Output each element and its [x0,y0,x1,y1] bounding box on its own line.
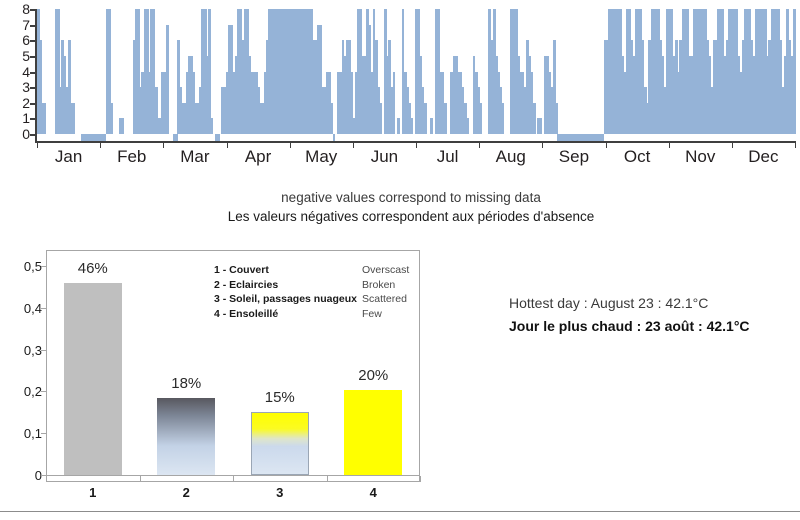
footer-divider [0,511,800,512]
top-chart-month-labels: JanFebMarAprMayJunJulAugSepOctNovDec [37,147,795,171]
top-chart-bar [430,118,433,134]
top-chart-y-tick [30,25,36,27]
bottom-chart-x-tick [140,476,141,482]
top-chart-bar [502,103,505,134]
top-chart-bar [555,103,558,134]
bottom-chart-x-tick [46,476,47,482]
bottom-chart-bar [157,398,215,475]
bottom-chart-y-tick-label: 0,4 [24,302,42,315]
top-chart-y-axis-labels: 876543210 [8,9,30,135]
top-chart-bar [533,103,536,134]
top-chart-y-tick-label: 1 [22,111,30,125]
legend-label-french: 1 - Couvert [214,263,269,278]
legend-label-french: 3 - Soleil, passages nuageux [214,292,357,307]
hottest-day-note: Hottest day : August 23 : 42.1°C Jour le… [509,292,779,338]
bottom-chart-y-tick [41,266,47,267]
legend-label-english: Few [362,307,382,322]
top-chart-bar [393,72,396,135]
top-chart-bar [444,103,447,134]
bottom-chart-y-tick-label: 0,3 [24,344,42,357]
top-chart-y-tick [30,72,36,74]
top-chart-y-tick-label: 0 [22,127,30,141]
top-chart-bar [397,118,400,134]
bottom-chart-y-tick [41,391,47,392]
top-chart-y-tick-label: 3 [22,80,30,94]
top-chart-y-tick-label: 8 [22,2,30,16]
bottom-chart-category-label: 3 [250,485,310,500]
bottom-chart-y-axis-labels: 00,10,20,30,40,5 [4,245,42,485]
top-chart-month-label: Dec [732,147,795,167]
hottest-day-english: Hottest day : August 23 : 42.1°C [509,292,779,315]
bottom-chart-y-tick-label: 0,1 [24,427,42,440]
top-chart-bar [466,118,469,134]
top-chart-bar [379,103,382,134]
top-chart-bar [602,134,605,141]
bottom-chart-bar-value-label: 46% [53,261,133,277]
bottom-chart-bar-value-label: 18% [146,376,226,392]
top-chart-plot-area [37,9,795,141]
top-chart-x-tick [227,141,228,148]
top-chart-bar [424,103,427,134]
top-chart-y-tick [30,9,36,11]
bottom-chart-x-tick [327,476,328,482]
hottest-day-french: Jour le plus chaud : 23 août : 42.1°C [509,315,779,338]
top-chart-month-label: Feb [100,147,163,167]
top-chart-month-label: Apr [227,147,290,167]
top-chart-bar [479,103,482,134]
top-chart-y-tick [30,134,36,136]
top-chart-bar [330,103,333,134]
top-chart-x-axis [35,141,795,143]
top-chart-y-tick [30,40,36,42]
top-chart-bar [175,134,178,141]
top-chart-x-tick [100,141,101,148]
top-chart-bar [793,9,796,134]
top-chart-month-label: Jun [353,147,416,167]
top-chart-x-tick [353,141,354,148]
bottom-chart-y-tick-label: 0,5 [24,260,42,273]
daily-cloud-cover-chart: 876543210 JanFebMarAprMayJunJulAugSepOct… [0,0,800,175]
top-chart-bar [210,118,213,134]
top-chart-y-tick [30,118,36,120]
top-chart-x-tick [732,141,733,148]
top-chart-x-tick [669,141,670,148]
top-chart-x-tick [290,141,291,148]
top-chart-bar [217,134,220,141]
top-chart-y-tick-label: 6 [22,33,30,47]
legend-row: 3 - Soleil, passages nuageuxScattered [214,292,414,307]
sky-condition-legend: 1 - CouvertOverscast2 - EclairciesBroken… [214,263,414,321]
top-chart-bar [539,118,542,134]
bottom-chart-y-tick [41,433,47,434]
top-chart-month-label: Oct [606,147,669,167]
bottom-chart-y-tick [41,308,47,309]
caption-line-french: Les valeurs négatives correspondent aux … [0,207,800,226]
top-chart-bar [104,134,107,141]
top-chart-y-tick-label: 5 [22,49,30,63]
top-chart-x-tick [606,141,607,148]
legend-label-english: Scattered [362,292,407,307]
top-chart-y-tick-label: 2 [22,96,30,110]
top-chart-bar [208,9,211,134]
bottom-chart-x-tick [233,476,234,482]
top-chart-x-tick [163,141,164,148]
caption-line-english: negative values correspond to missing da… [0,188,800,207]
top-chart-month-label: May [290,147,353,167]
legend-row: 4 - EnsoleilléFew [214,307,414,322]
top-chart-bar [410,118,413,134]
top-chart-y-tick-label: 4 [22,65,30,79]
legend-label-french: 4 - Ensoleillé [214,307,278,322]
top-chart-bar [333,134,336,141]
bottom-chart-category-label: 4 [343,485,403,500]
missing-data-caption: negative values correspond to missing da… [0,188,800,226]
top-chart-bar [110,103,113,134]
top-chart-x-tick [542,141,543,148]
legend-row: 2 - EclairciesBroken [214,278,414,293]
top-chart-month-label: Jul [416,147,479,167]
top-chart-month-label: Nov [669,147,732,167]
bottom-chart-bar [251,412,309,475]
legend-label-english: Overscast [362,263,409,278]
legend-label-french: 2 - Eclaircies [214,278,278,293]
top-chart-x-tick [795,141,796,148]
bottom-chart-x-tick [420,476,421,482]
top-chart-x-tick [416,141,417,148]
bottom-chart-bar [344,390,402,475]
top-chart-month-label: Jan [37,147,100,167]
bottom-chart-bar-value-label: 15% [240,390,320,406]
bottom-chart-category-label: 1 [63,485,123,500]
bottom-chart-y-tick [41,350,47,351]
top-chart-y-tick [30,56,36,58]
top-chart-bar [166,25,169,134]
sky-condition-frequency-chart: 00,10,20,30,40,5 1 - CouvertOverscast2 -… [0,245,800,520]
top-chart-bar [44,103,47,134]
top-chart-y-tick-label: 7 [22,18,30,32]
bottom-chart-category-label: 2 [156,485,216,500]
top-chart-bar [121,118,124,134]
bottom-chart-bar [64,283,122,475]
top-chart-y-tick [30,103,36,105]
top-chart-month-label: Sep [542,147,605,167]
top-chart-month-label: Aug [479,147,542,167]
legend-label-english: Broken [362,278,395,293]
top-chart-x-tick [479,141,480,148]
legend-row: 1 - CouvertOverscast [214,263,414,278]
top-chart-x-tick [37,141,38,148]
top-chart-bar [73,103,76,134]
top-chart-month-label: Mar [163,147,226,167]
bottom-chart-bar-value-label: 20% [333,368,413,384]
bottom-chart-y-tick-label: 0,2 [24,385,42,398]
top-chart-y-tick [30,87,36,89]
